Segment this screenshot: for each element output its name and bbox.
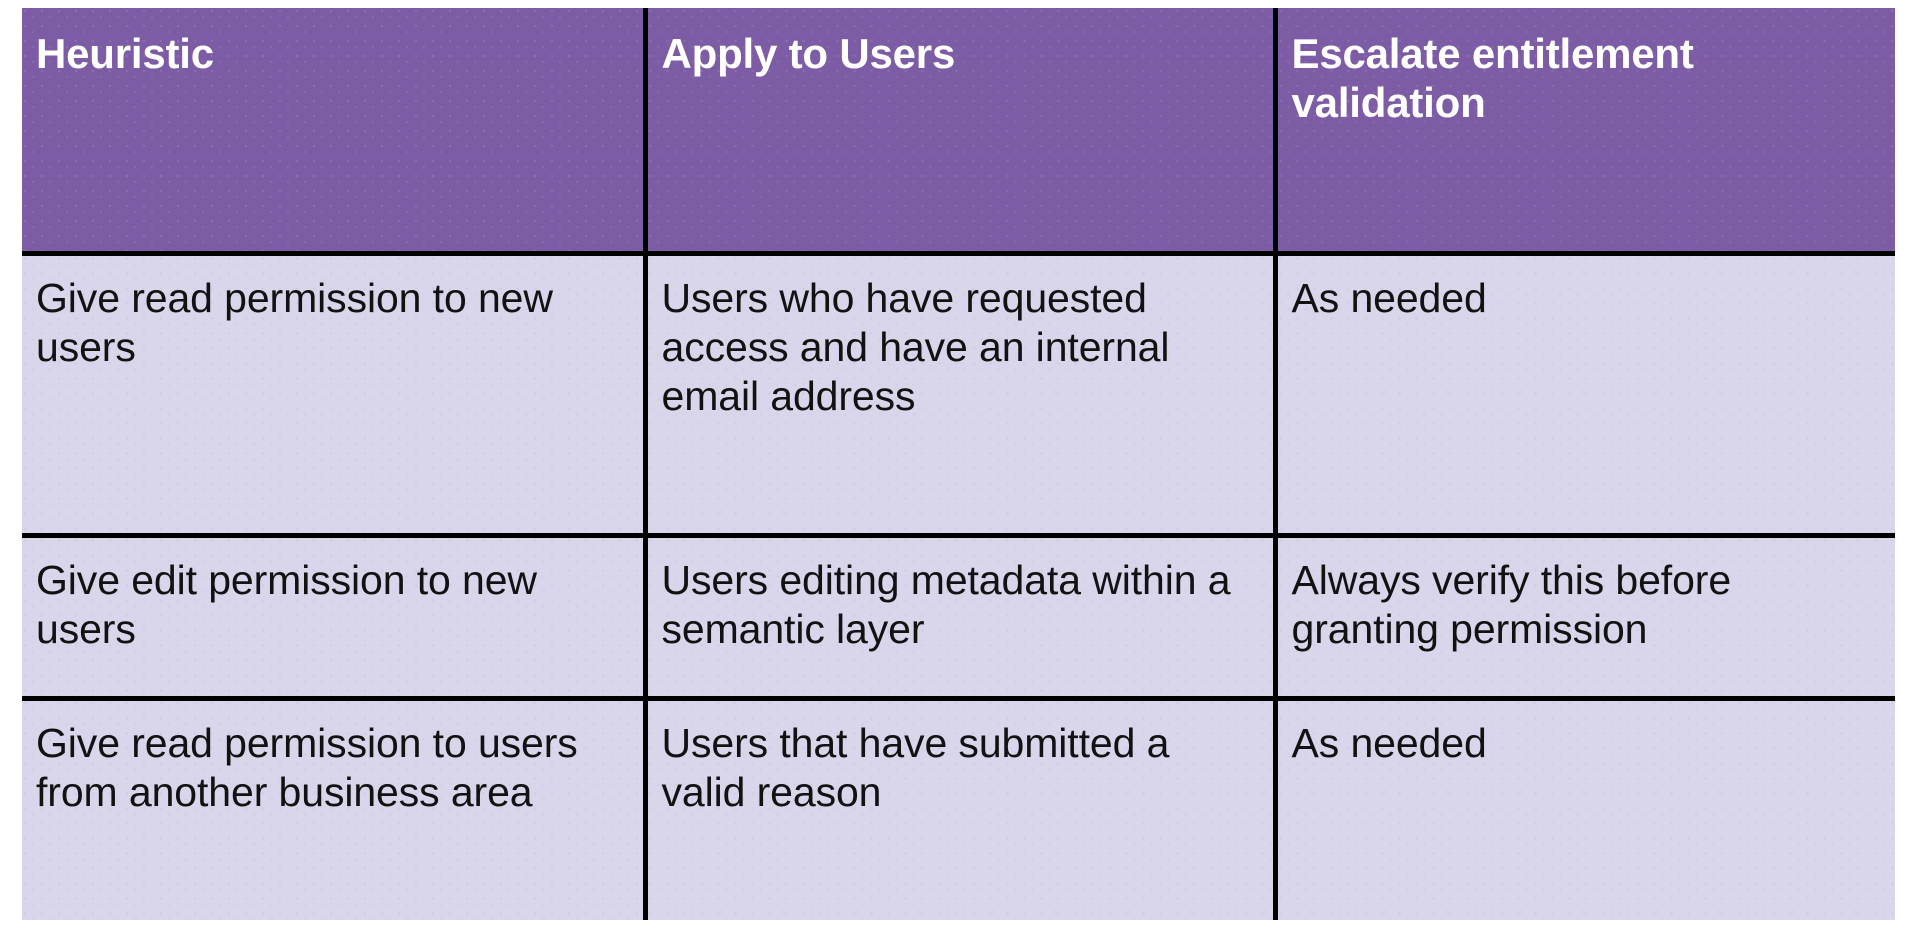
column-header-escalate-entitlement-validation: Escalate entitlement validation <box>1275 8 1895 253</box>
cell-apply-to-users-text: Users that have submitted a valid reason <box>662 719 1257 817</box>
cell-apply-to-users: Users editing metadata within a semantic… <box>645 535 1275 698</box>
column-header-apply-to-users: Apply to Users <box>645 8 1275 253</box>
cell-escalate: As needed <box>1275 698 1895 920</box>
table-body: Give read permission to new users Users … <box>22 253 1895 920</box>
cell-apply-to-users-text: Users editing metadata within a semantic… <box>662 556 1257 654</box>
cell-escalate: As needed <box>1275 253 1895 535</box>
column-header-heuristic: Heuristic <box>22 8 645 253</box>
cell-heuristic-text: Give edit permission to new users <box>36 556 627 654</box>
table-header-row: Heuristic Apply to Users Escalate entitl… <box>22 8 1895 253</box>
table-row: Give read permission to new users Users … <box>22 253 1895 535</box>
cell-heuristic-text: Give read permission to new users <box>36 274 627 372</box>
cell-apply-to-users-text: Users who have requested access and have… <box>662 274 1257 422</box>
cell-heuristic: Give read permission to new users <box>22 253 645 535</box>
heuristic-table-container: Heuristic Apply to Users Escalate entitl… <box>22 8 1895 920</box>
cell-escalate-text: Always verify this before granting permi… <box>1292 556 1880 654</box>
column-header-apply-to-users-label: Apply to Users <box>662 30 1257 79</box>
column-header-heuristic-label: Heuristic <box>36 30 627 79</box>
cell-heuristic-text: Give read permission to users from anoth… <box>36 719 627 817</box>
cell-heuristic: Give read permission to users from anoth… <box>22 698 645 920</box>
cell-heuristic: Give edit permission to new users <box>22 535 645 698</box>
cell-escalate-text: As needed <box>1292 719 1880 768</box>
heuristic-table: Heuristic Apply to Users Escalate entitl… <box>22 8 1895 920</box>
column-header-escalate-entitlement-validation-label: Escalate entitlement validation <box>1292 30 1880 127</box>
cell-apply-to-users: Users that have submitted a valid reason <box>645 698 1275 920</box>
cell-escalate-text: As needed <box>1292 274 1880 323</box>
table-row: Give edit permission to new users Users … <box>22 535 1895 698</box>
cell-escalate: Always verify this before granting permi… <box>1275 535 1895 698</box>
table-header: Heuristic Apply to Users Escalate entitl… <box>22 8 1895 253</box>
cell-apply-to-users: Users who have requested access and have… <box>645 253 1275 535</box>
table-row: Give read permission to users from anoth… <box>22 698 1895 920</box>
